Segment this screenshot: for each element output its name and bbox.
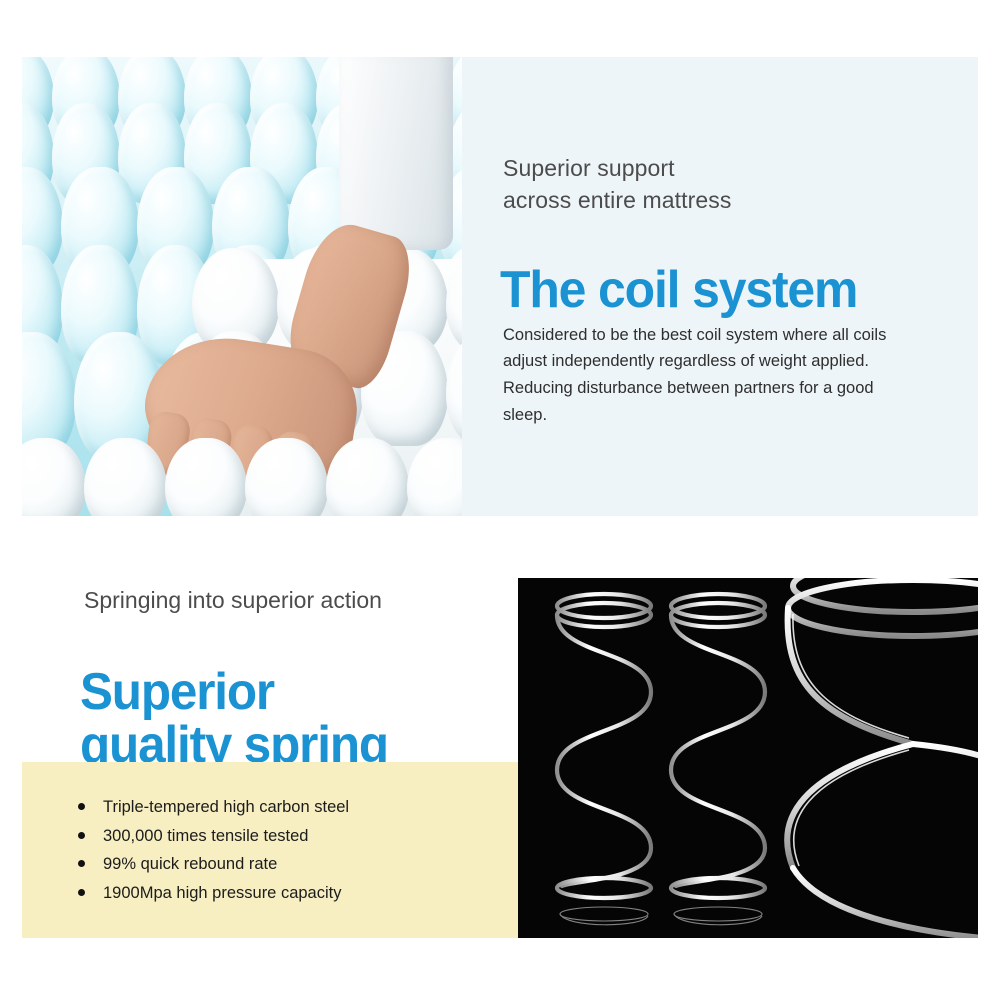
list-item: 300,000 times tensile tested <box>78 823 504 850</box>
quality-spring-section: Springing into superior action Superior … <box>0 530 1000 1000</box>
pocket-spring-mattress-photo <box>22 57 462 516</box>
quality-spring-headline: Superior quality spring <box>80 666 489 772</box>
coil-system-body-text: Considered to be the best coil system wh… <box>503 322 891 429</box>
list-item: 99% quick rebound rate <box>78 851 504 878</box>
sleeve <box>339 57 453 250</box>
kicker-line-2: across entire mattress <box>503 184 923 216</box>
coil-system-copy-panel: Superior support across entire mattress … <box>462 57 978 516</box>
list-item: Triple-tempered high carbon steel <box>78 794 504 821</box>
quality-spring-kicker: Springing into superior action <box>84 586 514 616</box>
coil-system-section: Superior support across entire mattress … <box>0 0 1000 530</box>
coil-row-foreground <box>22 438 462 516</box>
infographic-canvas: Superior support across entire mattress … <box>0 0 1000 1000</box>
spring-features-panel: Triple-tempered high carbon steel 300,00… <box>22 762 518 938</box>
coil-spring-closeup-icon <box>763 578 978 938</box>
coil-system-kicker: Superior support across entire mattress <box>503 152 923 216</box>
kicker-line-1: Superior support <box>503 155 675 181</box>
steel-coil-springs-photo <box>518 578 978 938</box>
spring-features-list: Triple-tempered high carbon steel 300,00… <box>78 794 504 909</box>
coil-system-headline: The coil system <box>500 264 942 316</box>
list-item: 1900Mpa high pressure capacity <box>78 880 504 907</box>
coil-spring-icon <box>658 584 778 934</box>
headline-line-1: Superior <box>80 663 274 721</box>
coil-spring-icon <box>544 584 664 934</box>
